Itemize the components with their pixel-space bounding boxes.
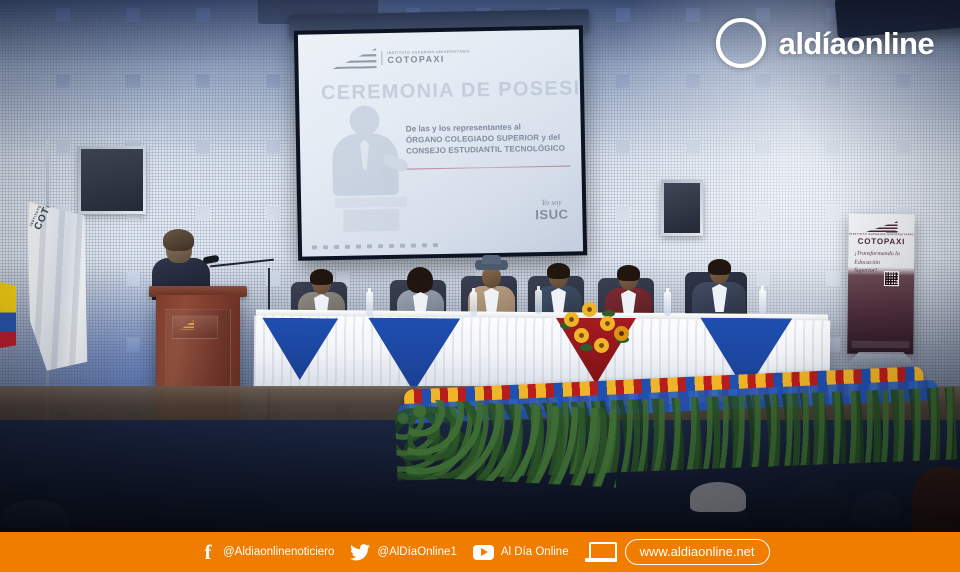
- slide-speaker-illustration: [329, 105, 403, 226]
- audience-head-5: [0, 500, 70, 532]
- slide-title: CEREMONIA DE POSESIÓN: [321, 77, 571, 105]
- watermark-logo: aldíaonline: [716, 18, 934, 68]
- water-bottle-1: [366, 292, 373, 316]
- rollup-logo-icon: [864, 221, 898, 233]
- illustration-head: [349, 105, 380, 136]
- slide-signature: Yo soy ISUC: [535, 198, 569, 223]
- greenery-vines-left: [406, 399, 620, 488]
- screenshot-frame: INSTITUTO SUPERIOR UNIVERSITARIO COTOPAX…: [0, 0, 960, 572]
- footer-facebook[interactable]: f @Aldiaonlinenoticiero: [200, 543, 334, 561]
- wall-speaker-left: [78, 146, 146, 214]
- slide-divider: [406, 166, 570, 170]
- facebook-handle: @Aldiaonlinenoticiero: [223, 546, 334, 558]
- footer-website[interactable]: www.aldiaonline.net: [585, 539, 770, 565]
- website-url[interactable]: www.aldiaonline.net: [625, 539, 770, 565]
- circle-ring-icon: [716, 18, 766, 68]
- slide-body-text: De las y los representantes al ÓRGANO CO…: [406, 122, 571, 157]
- rollup-qr-icon: [884, 271, 899, 286]
- sunflower: [600, 316, 615, 331]
- cotopaxi-mark-icon: [332, 48, 376, 69]
- news-photo: INSTITUTO SUPERIOR UNIVERSITARIO COTOPAX…: [0, 0, 960, 532]
- water-bottle-3: [535, 290, 542, 314]
- footer-items: f @Aldiaonlinenoticiero @AlDíaOnline1 Al…: [200, 539, 786, 565]
- footer-youtube[interactable]: Al Día Online: [473, 545, 569, 560]
- panelist-hair: [547, 263, 570, 279]
- illustration-podium-top: [335, 197, 407, 208]
- projection-screen: INSTITUTO SUPERIOR UNIVERSITARIO COTOPAX…: [294, 25, 587, 261]
- sunflower: [594, 338, 609, 353]
- audience-head-3: [852, 490, 902, 532]
- youtube-handle: Al Día Online: [501, 546, 569, 558]
- wall-speaker-right: [661, 180, 703, 236]
- sunflower: [564, 312, 579, 327]
- water-bottle-4: [664, 292, 671, 316]
- panelist-hat-crown: [482, 255, 501, 264]
- ecuador-flag: [0, 282, 16, 348]
- slide-logo-main: COTOPAXI: [387, 53, 470, 65]
- slide-logo-text: INSTITUTO SUPERIOR UNIVERSITARIO COTOPAX…: [381, 49, 470, 65]
- slide-institution-logo: INSTITUTO SUPERIOR UNIVERSITARIO COTOPAX…: [332, 43, 482, 72]
- rollup-footer-strip: [851, 341, 909, 349]
- watermark-brand-name: aldíaonline: [779, 28, 934, 59]
- leaf: [580, 344, 593, 351]
- slide-bottom-strip: [312, 239, 573, 250]
- podium-speaker-hair: [163, 229, 194, 251]
- panelist-hair: [617, 265, 640, 281]
- audience-head-2: [790, 478, 846, 532]
- rollup-main: COTOPAXI: [848, 237, 914, 247]
- illustration-podium-body: [343, 209, 399, 232]
- panelist-hair: [310, 269, 333, 285]
- slide-signature-main: ISUC: [535, 207, 568, 223]
- footer-social-bar: f @Aldiaonlinenoticiero @AlDíaOnline1 Al…: [0, 532, 960, 572]
- water-bottle-2: [470, 292, 477, 316]
- footer-twitter[interactable]: @AlDíaOnline1: [350, 544, 456, 561]
- podium-plaque: [172, 315, 218, 339]
- panelist-hair: [708, 259, 731, 275]
- facebook-icon: f: [200, 543, 216, 561]
- flower-centerpiece: [556, 296, 642, 362]
- audience-hair-1: [690, 482, 746, 512]
- sunflower: [614, 326, 629, 341]
- twitter-bird-icon: [350, 544, 370, 561]
- twitter-handle: @AlDíaOnline1: [377, 546, 456, 558]
- laptop-icon: [585, 542, 617, 562]
- youtube-icon: [473, 545, 494, 560]
- sunflower: [574, 328, 589, 343]
- sunflower: [582, 302, 597, 317]
- projected-slide: INSTITUTO SUPERIOR UNIVERSITARIO COTOPAX…: [298, 29, 583, 256]
- panelist-hair: [407, 267, 433, 293]
- water-bottle-5: [759, 290, 766, 314]
- rollup-banner: INSTITUTO SUPERIOR UNIVERSITARIO COTOPAX…: [847, 214, 914, 355]
